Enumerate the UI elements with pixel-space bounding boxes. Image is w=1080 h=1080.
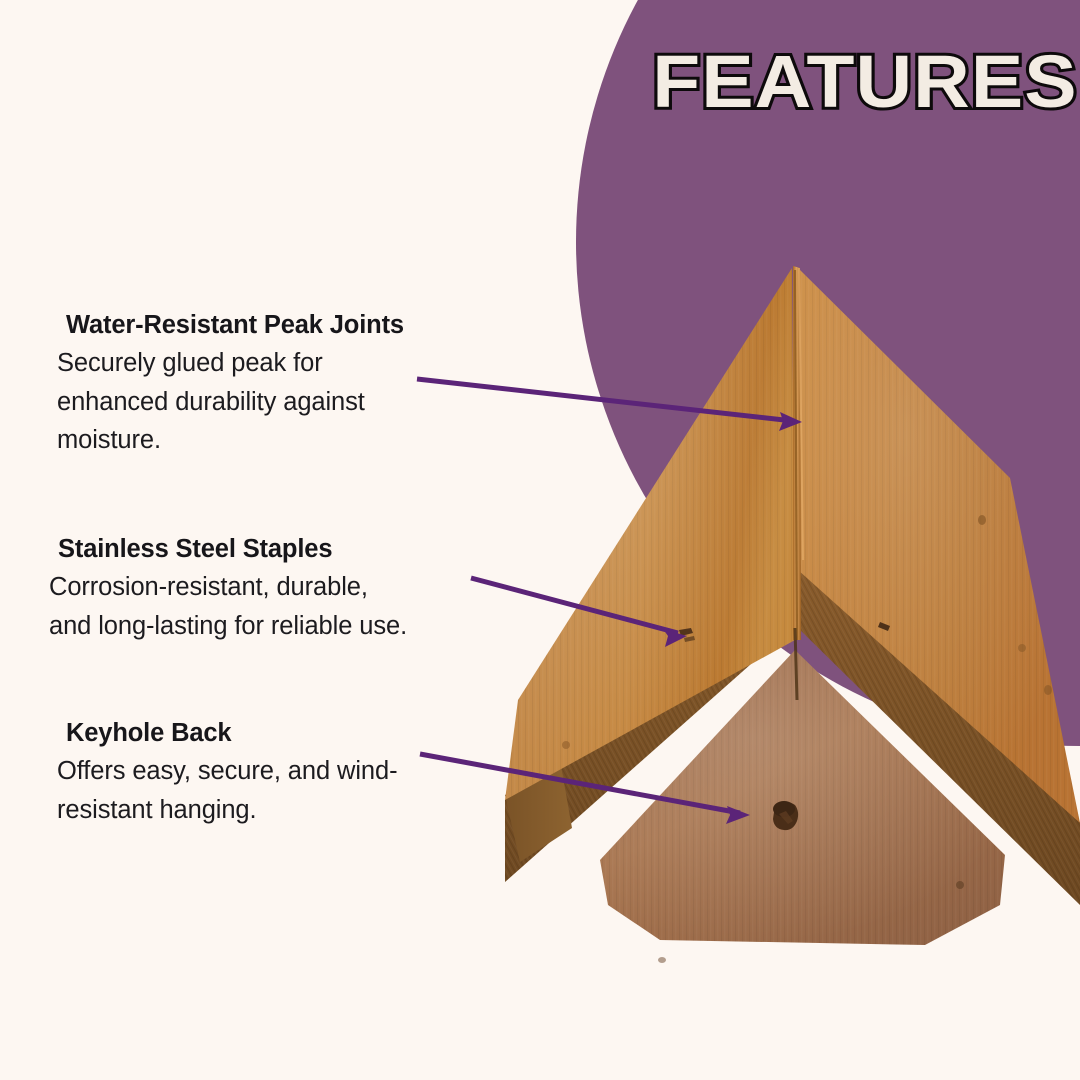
feature-title: Keyhole Back xyxy=(66,718,487,750)
callout-arrow-head-2 xyxy=(663,629,687,647)
feature-body-line: Corrosion-resistant, durable, xyxy=(49,568,479,607)
feature-body-line: moisture. xyxy=(57,421,487,460)
feature-body-line: and long-lasting for reliable use. xyxy=(49,607,479,646)
feature-block: Water-Resistant Peak Joints Securely glu… xyxy=(57,310,487,460)
page-title: FEATURES xyxy=(652,42,1068,122)
callout-arrow-line-2 xyxy=(471,578,678,633)
feature-body: Securely glued peak for enhanced durabil… xyxy=(57,344,487,460)
feature-body-line: enhanced durability against xyxy=(57,383,487,422)
keyhole-slot xyxy=(773,801,798,830)
feature-body-line: Offers easy, secure, and wind- xyxy=(57,752,487,791)
feature-title: Stainless Steel Staples xyxy=(58,534,479,566)
staple-left-roof xyxy=(679,628,695,642)
poster-canvas: FEATURES xyxy=(0,0,1080,1080)
callout-arrow-head-3 xyxy=(726,806,750,824)
left-eave-tip xyxy=(505,760,572,862)
feature-body: Corrosion-resistant, durable, and long-l… xyxy=(49,568,479,646)
feature-title: Water-Resistant Peak Joints xyxy=(66,310,487,342)
feature-body-line: resistant hanging. xyxy=(57,791,487,830)
feature-body-line: Securely glued peak for xyxy=(57,344,487,383)
feature-block: Stainless Steel Staples Corrosion-resist… xyxy=(49,534,479,645)
feature-body: Offers easy, secure, and wind- resistant… xyxy=(57,752,487,830)
feature-block: Keyhole Back Offers easy, secure, and wi… xyxy=(57,718,487,829)
